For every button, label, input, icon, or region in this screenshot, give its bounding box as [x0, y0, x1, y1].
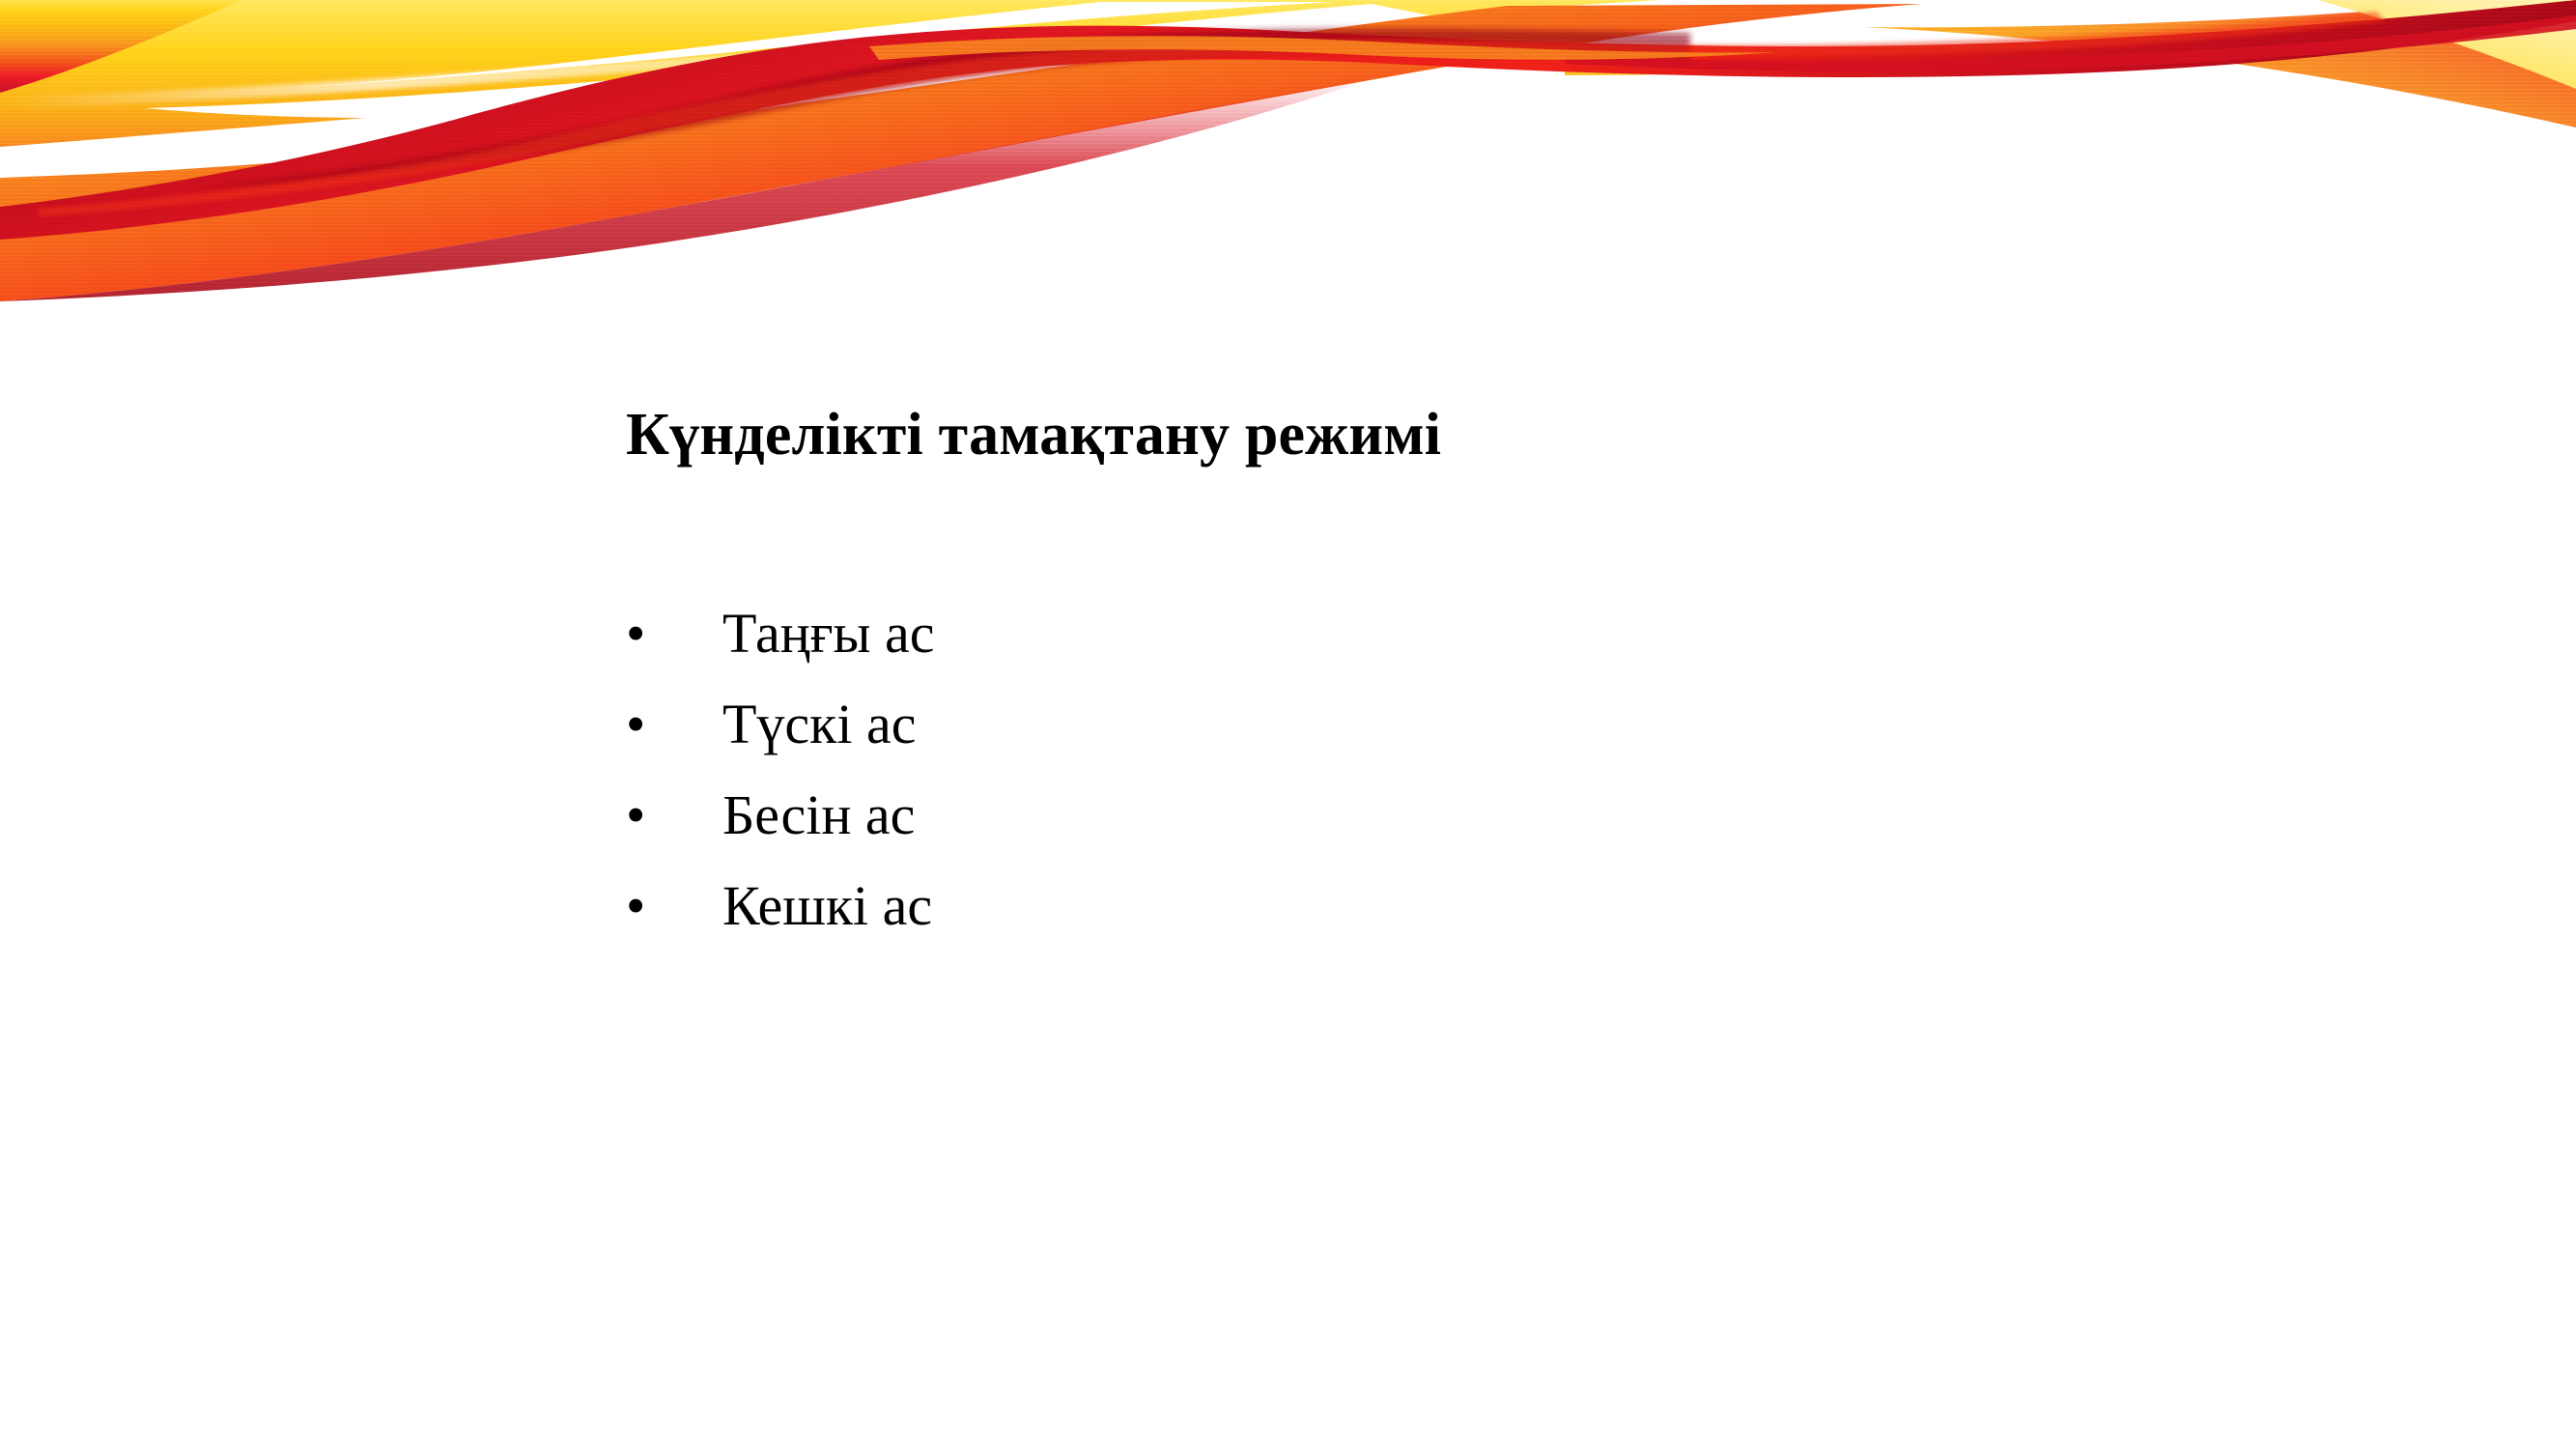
wave-striation-overlay — [0, 0, 2576, 348]
presentation-slide: Күнделікті тамақтану режимі • Таңғы ас •… — [0, 0, 2576, 1449]
list-item: • Кешкі ас — [626, 861, 2075, 952]
wave-top-yellow-band — [0, 0, 1661, 147]
wave-white-sliver — [188, 2, 1333, 93]
wave-crimson-underbelly — [0, 75, 1381, 301]
slide-content: Күнделікті тамақтану режимі • Таңғы ас •… — [626, 404, 2075, 952]
wave-light-streak — [0, 29, 1062, 108]
wave-right-swell — [1864, 0, 2576, 128]
wave-orange-underlap — [869, 36, 1777, 60]
list-item-label: Бесін ас — [722, 770, 915, 861]
wave-ribbon-core — [184, 28, 1690, 189]
wave-lower-red-mass — [0, 4, 1922, 301]
wave-ribbon-highlight — [39, 12, 2386, 216]
list-item: • Түскі ас — [626, 679, 2075, 770]
wave-red-filament — [1565, 15, 2576, 71]
slide-title: Күнделікті тамақтану режимі — [626, 404, 2075, 467]
wave-white-sliver-wide — [145, 4, 1430, 118]
list-item-label: Кешкі ас — [722, 861, 932, 952]
wave-dark-red-ribbon — [0, 0, 2576, 240]
bullet-marker-icon: • — [626, 679, 722, 770]
list-item-label: Түскі ас — [722, 679, 916, 770]
bullet-marker-icon: • — [626, 861, 722, 952]
wave-banner-graphic — [0, 0, 2576, 348]
wave-top-right-yellow-wedge — [2318, 0, 2576, 89]
wave-right-band — [1565, 0, 2576, 75]
list-item-label: Таңғы ас — [722, 588, 935, 679]
bullet-marker-icon: • — [626, 588, 722, 679]
list-item: • Бесін ас — [626, 770, 2075, 861]
bullet-list: • Таңғы ас • Түскі ас • Бесін ас • Кешкі… — [626, 588, 2075, 952]
bullet-marker-icon: • — [626, 770, 722, 861]
list-item: • Таңғы ас — [626, 588, 2075, 679]
wave-left-solid-join — [0, 0, 241, 93]
